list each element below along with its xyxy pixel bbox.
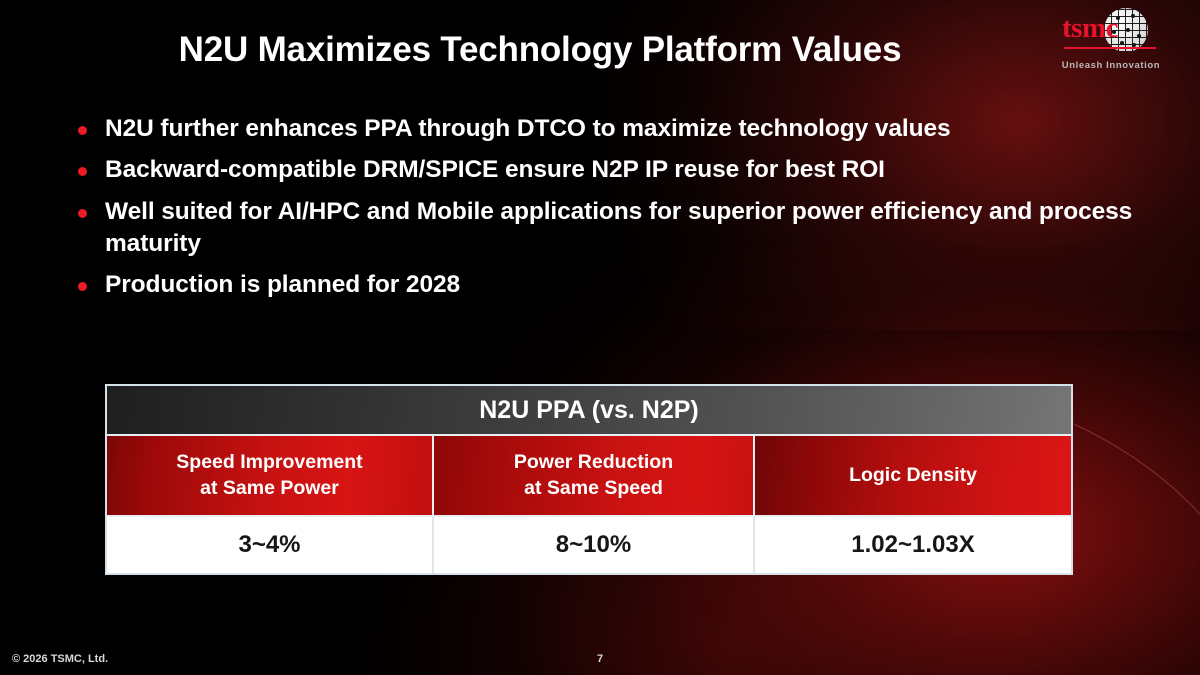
tsmc-logo: tsmc Unleash Innovation: [1036, 6, 1186, 71]
slide: tsmc Unleash Innovation N2U Maximizes Te…: [0, 0, 1200, 675]
ppa-column-header-line1: Speed Improvement: [176, 451, 362, 473]
ppa-column-header-density: Logic Density: [755, 436, 1071, 515]
bullet-dot-icon: [78, 126, 87, 135]
bullet-text: Production is planned for 2028: [105, 269, 1138, 301]
tsmc-tagline: Unleash Innovation: [1036, 60, 1186, 71]
bullet-dot-icon: [78, 282, 87, 291]
bullet-dot-icon: [78, 209, 87, 218]
tsmc-logo-mark: tsmc: [1036, 6, 1186, 58]
ppa-table-title: N2U PPA (vs. N2P): [107, 386, 1071, 436]
ppa-value-density: 1.02~1.03X: [755, 517, 1071, 573]
tsmc-logo-rule: [1064, 47, 1156, 49]
ppa-column-header-line2: at Same Speed: [524, 477, 663, 499]
ppa-table-value-row: 3~4% 8~10% 1.02~1.03X: [107, 517, 1071, 573]
ppa-table: N2U PPA (vs. N2P) Speed Improvement at S…: [105, 384, 1073, 575]
ppa-value-power: 8~10%: [434, 517, 755, 573]
ppa-value-speed: 3~4%: [107, 517, 434, 573]
bullet-item: Backward-compatible DRM/SPICE ensure N2P…: [78, 154, 1138, 186]
slide-title: N2U Maximizes Technology Platform Values: [0, 30, 1080, 70]
bullet-list: N2U further enhances PPA through DTCO to…: [78, 113, 1138, 311]
ppa-table-header-row: Speed Improvement at Same Power Power Re…: [107, 436, 1071, 517]
bullet-item: Production is planned for 2028: [78, 269, 1138, 301]
bullet-item: Well suited for AI/HPC and Mobile applic…: [78, 196, 1138, 261]
bullet-text: Well suited for AI/HPC and Mobile applic…: [105, 196, 1138, 261]
ppa-column-header-speed: Speed Improvement at Same Power: [107, 436, 434, 515]
ppa-column-header-line2: at Same Power: [200, 477, 339, 499]
bullet-text: Backward-compatible DRM/SPICE ensure N2P…: [105, 154, 1138, 186]
bullet-item: N2U further enhances PPA through DTCO to…: [78, 113, 1138, 145]
ppa-column-header-line1: Power Reduction: [514, 451, 673, 473]
ppa-column-header-line1: Logic Density: [849, 463, 977, 489]
bullet-dot-icon: [78, 167, 87, 176]
tsmc-wordmark: tsmc: [1062, 12, 1162, 44]
bullet-text: N2U further enhances PPA through DTCO to…: [105, 113, 1138, 145]
ppa-column-header-power: Power Reduction at Same Speed: [434, 436, 755, 515]
footer-page-number: 7: [0, 653, 1200, 665]
